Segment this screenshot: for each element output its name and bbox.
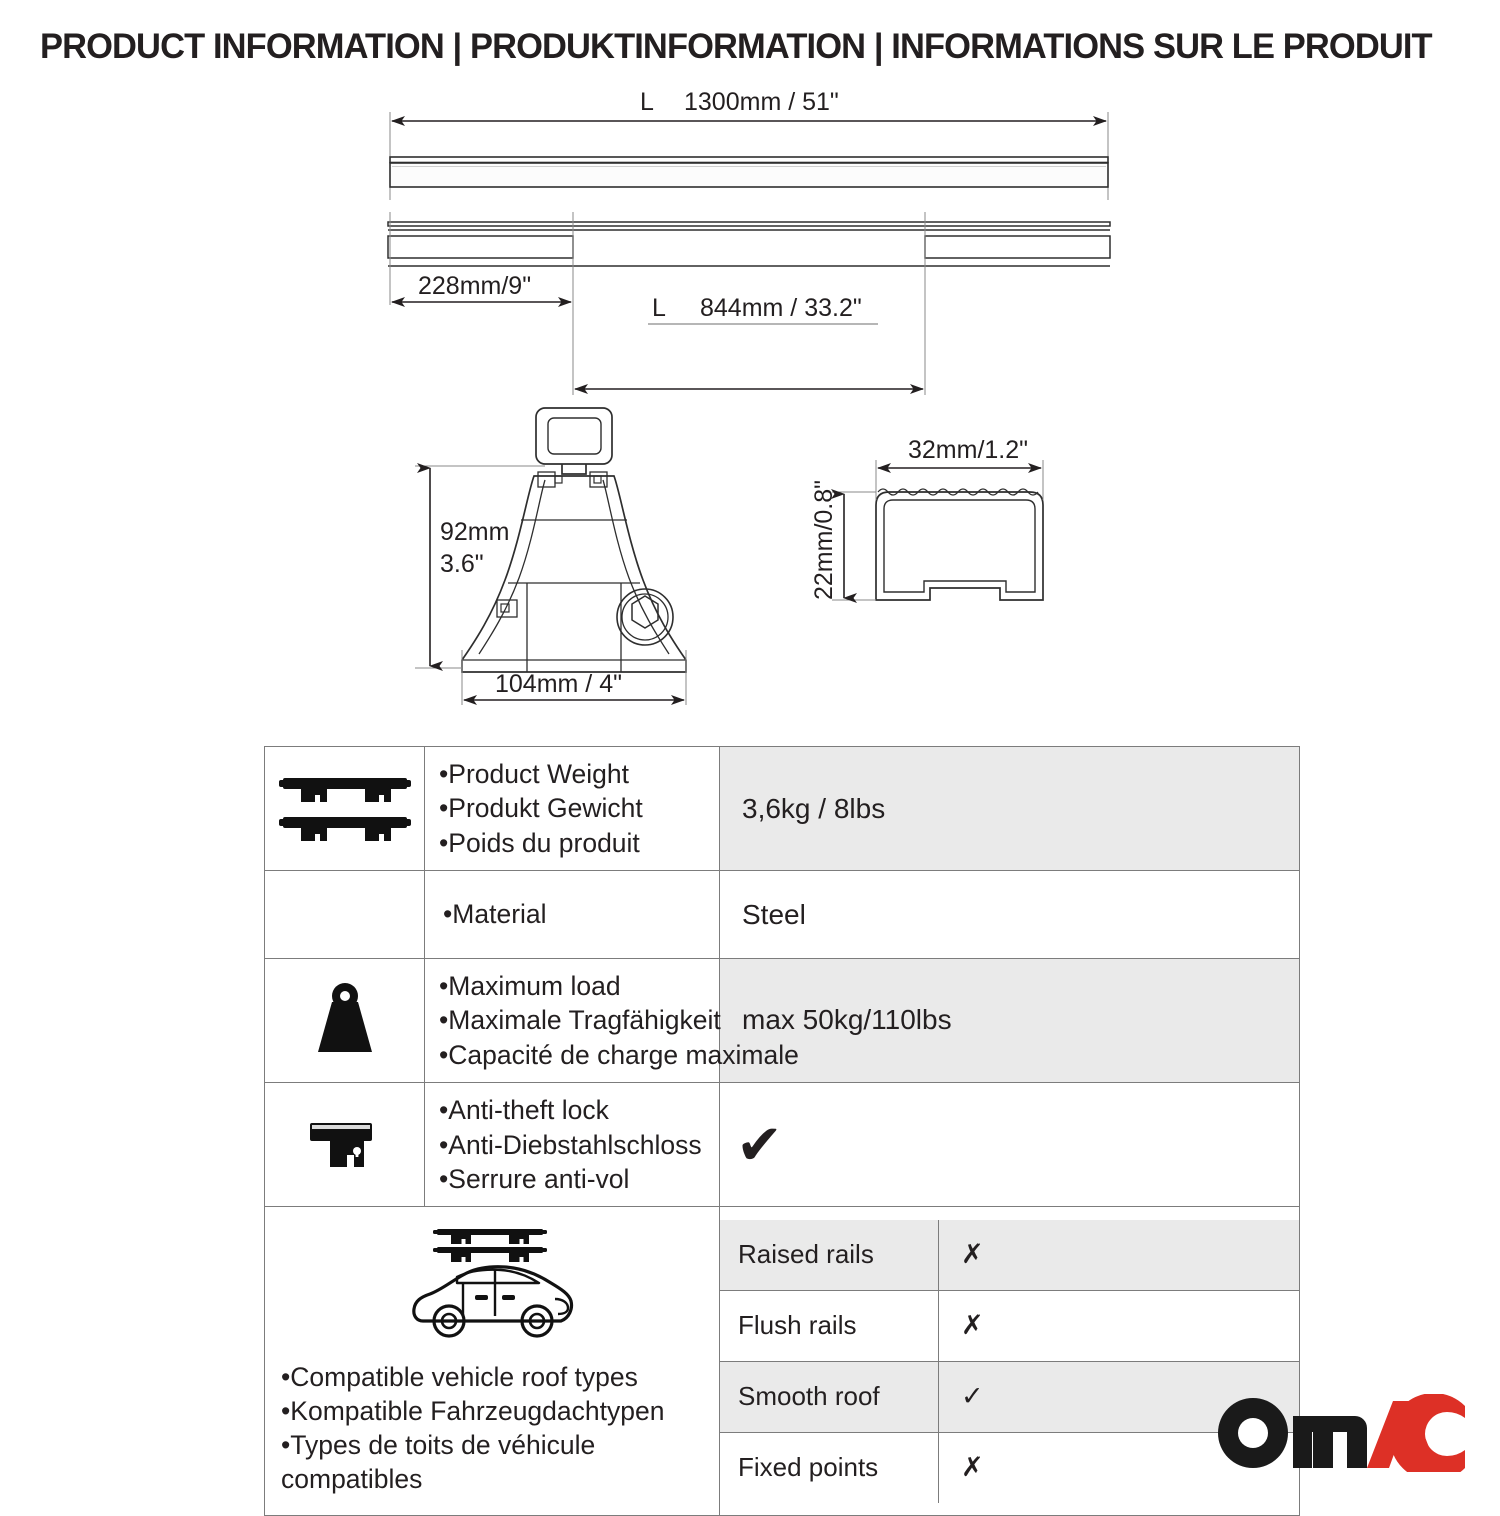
lock-icon (265, 1109, 424, 1181)
dimension-foot-height-line2: 3.6" (440, 550, 484, 578)
extension-lines-profile-height (832, 492, 876, 600)
max-load-value: max 50kg/110lbs (720, 1004, 1299, 1036)
drawing-svg: L 1300mm / 51" (0, 0, 1500, 740)
row-labels: •Maximum load •Maximale Tragfähigkeit •C… (425, 959, 719, 1082)
row-icon-cell (265, 871, 425, 958)
roof-type-mark-cell: ✗ (939, 1290, 1300, 1361)
table-row: •Product Weight •Produkt Gewicht •Poids … (265, 747, 1300, 871)
row-labels: •Anti-theft lock •Anti-Diebstahlschloss … (425, 1083, 719, 1206)
product-information-page: PRODUCT INFORMATION | PRODUKTINFORMATION… (0, 0, 1500, 1500)
row-labels: •Product Weight •Produkt Gewicht •Poids … (425, 747, 719, 870)
row-label-cell: •Product Weight •Produkt Gewicht •Poids … (425, 747, 720, 871)
label-line: •Material (443, 897, 705, 931)
table-row: •Material Steel (265, 871, 1300, 958)
dimension-foot-offset-value: 228mm/9" (418, 272, 531, 300)
roof-type-row: Fixed points ✗ (720, 1432, 1299, 1503)
label-line: •Anti-Diebstahlschloss (439, 1128, 705, 1162)
row-value-cell: ✔ (720, 1083, 1300, 1207)
compatibility-block: •Compatible vehicle roof types •Kompatib… (265, 1207, 719, 1515)
material-value: Steel (720, 899, 1299, 931)
roof-type-row: Flush rails ✗ (720, 1290, 1299, 1361)
label-line: •Capacité de charge maximale (439, 1038, 705, 1072)
table-row-compatibility: •Compatible vehicle roof types •Kompatib… (265, 1207, 1300, 1516)
crossbars-icon (265, 770, 424, 848)
label-line: •Compatible vehicle roof types (281, 1361, 703, 1395)
specification-table: •Product Weight •Produkt Gewicht •Poids … (264, 746, 1300, 1516)
table-row: •Maximum load •Maximale Tragfähigkeit •C… (265, 958, 1300, 1082)
roof-type-mark: ✗ (939, 1312, 1299, 1339)
anti-theft-check-mark: ✔ (720, 1117, 1299, 1173)
label-line: •Poids du produit (439, 826, 705, 860)
label-line: •Serrure anti-vol (439, 1162, 705, 1196)
dimension-span-value: 844mm / 33.2" (700, 294, 862, 322)
dimension-profile-height-value: 22mm/0.8" (810, 480, 838, 600)
technical-drawing-area: L 1300mm / 51" (0, 0, 1500, 740)
product-weight-value: 3,6kg / 8lbs (720, 793, 1299, 825)
dimension-length-value: 1300mm / 51" (684, 88, 839, 116)
row-label-cell: •Material (425, 871, 720, 958)
row-value-cell: 3,6kg / 8lbs (720, 747, 1300, 871)
roof-types-table: Raised rails ✗ Flush rails ✗ (720, 1220, 1299, 1503)
dimension-foot-height-line1: 92mm (440, 518, 509, 546)
row-label-cell: •Anti-theft lock •Anti-Diebstahlschloss … (425, 1083, 720, 1207)
label-line: •Produkt Gewicht (439, 791, 705, 825)
crossbar-top-view (390, 157, 1108, 187)
table-row: •Anti-theft lock •Anti-Diebstahlschloss … (265, 1083, 1300, 1207)
roof-type-name: Flush rails (720, 1290, 939, 1361)
dimension-foot-width-value: 104mm / 4" (495, 670, 622, 698)
label-line: •Types de toits de véhicule compatibles (281, 1429, 703, 1497)
label-line: •Anti-theft lock (439, 1093, 705, 1127)
roof-type-name: Smooth roof (720, 1361, 939, 1432)
row-icon-cell (265, 958, 425, 1082)
roof-type-row: Raised rails ✗ (720, 1220, 1299, 1291)
label-line: •Kompatible Fahrzeugdachtypen (281, 1395, 703, 1429)
crossbar-side-view (388, 222, 1110, 266)
row-value-cell: Steel (720, 871, 1300, 958)
row-label-cell: •Maximum load •Maximale Tragfähigkeit •C… (425, 958, 720, 1082)
label-line: •Maximale Tragfähigkeit (439, 1003, 705, 1037)
row-labels: •Material (425, 871, 719, 957)
label-line: •Product Weight (439, 757, 705, 791)
compatibility-label-cell: •Compatible vehicle roof types •Kompatib… (265, 1207, 720, 1516)
profile-cross-section (872, 492, 1043, 605)
roof-type-mark-cell: ✗ (939, 1220, 1300, 1291)
roof-type-mark: ✗ (939, 1241, 1299, 1268)
foot-bolt-icon (617, 589, 673, 645)
roof-type-name: Fixed points (720, 1432, 939, 1503)
roof-types-cell: Raised rails ✗ Flush rails ✗ (720, 1207, 1300, 1516)
extension-lines-profile-width (876, 460, 1043, 500)
row-icon-cell (265, 747, 425, 871)
dimension-length-label: L (640, 88, 654, 116)
dimension-profile-width-value: 32mm/1.2" (908, 436, 1028, 464)
omac-logo-mark (1215, 1394, 1465, 1472)
compatibility-labels: •Compatible vehicle roof types •Kompatib… (281, 1361, 703, 1497)
roof-type-name: Raised rails (720, 1220, 939, 1291)
row-icon-cell (265, 1083, 425, 1207)
row-value-cell: max 50kg/110lbs (720, 958, 1300, 1082)
dimension-span-label: L (652, 294, 666, 322)
label-line: •Maximum load (439, 969, 705, 1003)
car-with-crossbars-icon (281, 1221, 703, 1347)
omac-logo (1215, 1394, 1465, 1472)
weight-icon (265, 980, 424, 1060)
roof-type-row: Smooth roof ✓ (720, 1361, 1299, 1432)
